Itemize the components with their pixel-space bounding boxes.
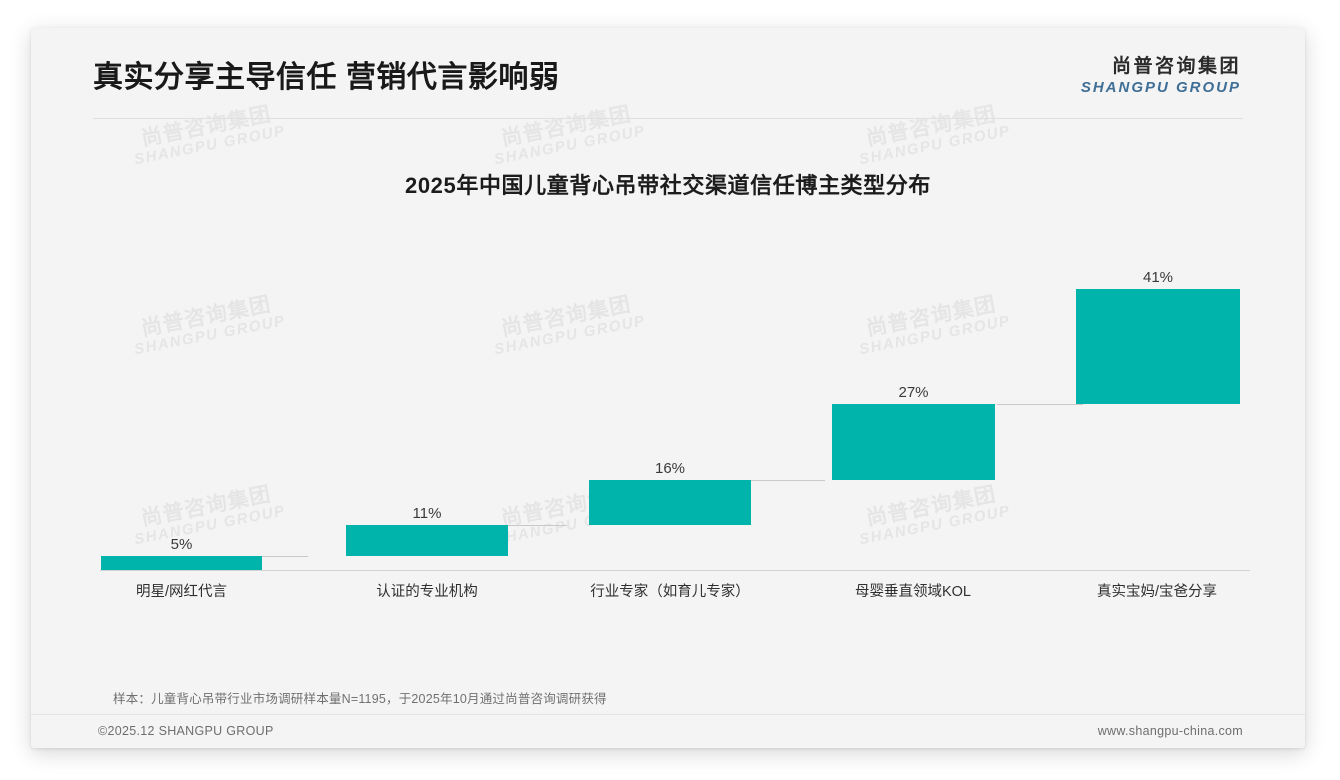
chart-title: 2025年中国儿童背心吊带社交渠道信任博主类型分布	[31, 168, 1305, 200]
data-label: 16%	[589, 460, 751, 477]
bar-hangye-zhuanjia[interactable]	[589, 480, 751, 525]
website-link[interactable]: www.shangpu-china.com	[1098, 724, 1243, 738]
logo-english-text: SHANGPU GROUP	[1081, 79, 1241, 97]
watermark-en: SHANGPU GROUP	[858, 503, 1012, 548]
watermark-en: SHANGPU GROUP	[133, 313, 287, 358]
footer-divider	[31, 714, 1305, 715]
logo-chinese-text: 尚普咨询集团	[1081, 56, 1241, 78]
watermark-cn: 尚普咨询集团	[129, 292, 284, 343]
watermark-en: SHANGPU GROUP	[858, 313, 1012, 358]
watermark-cn: 尚普咨询集团	[854, 292, 1009, 343]
header-divider	[93, 118, 1243, 119]
watermark-cn: 尚普咨询集团	[129, 482, 284, 533]
x-axis-label: 真实宝妈/宝爸分享	[1064, 580, 1250, 601]
watermark-en: SHANGPU GROUP	[493, 313, 647, 358]
copyright-text: ©2025.12 SHANGPU GROUP	[98, 724, 274, 738]
bar-renzheng-zhuanye-jigou[interactable]	[346, 525, 508, 556]
bar-zhenshi-baoma-baoba-fenxiang[interactable]	[1076, 289, 1240, 404]
watermark-en: SHANGPU GROUP	[493, 123, 647, 168]
chart-baseline-axis	[100, 570, 1250, 571]
watermark-en: SHANGPU GROUP	[858, 123, 1012, 168]
x-axis-label: 行业专家（如育儿专家）	[562, 580, 778, 601]
watermark-cn: 尚普咨询集团	[854, 482, 1009, 533]
data-label: 27%	[832, 384, 995, 401]
bar-muying-kol[interactable]	[832, 404, 995, 480]
source-note: 样本：儿童背心吊带行业市场调研样本量N=1195，于2025年10月通过尚普咨询…	[113, 688, 607, 707]
waterfall-connector	[739, 480, 825, 481]
data-label: 41%	[1076, 269, 1240, 286]
slide-card: 尚普咨询集团 SHANGPU GROUP 尚普咨询集团 SHANGPU GROU…	[31, 28, 1305, 748]
waterfall-connector	[997, 404, 1083, 405]
bar-mingxing-wanghong-daiyan[interactable]	[101, 556, 262, 570]
page-title: 真实分享主导信任 营销代言影响弱	[93, 52, 559, 96]
watermark-cn: 尚普咨询集团	[489, 292, 644, 343]
data-label: 5%	[101, 536, 262, 553]
x-axis-label: 母婴垂直领域KOL	[820, 580, 1006, 601]
brand-logo: 尚普咨询集团 SHANGPU GROUP	[1081, 56, 1241, 97]
x-axis-label: 认证的专业机构	[334, 580, 520, 601]
watermark-en: SHANGPU GROUP	[133, 123, 287, 168]
x-axis-label: 明星/网红代言	[89, 580, 274, 601]
data-label: 11%	[346, 505, 508, 522]
slide-header: 真实分享主导信任 营销代言影响弱 尚普咨询集团 SHANGPU GROUP	[31, 28, 1305, 118]
